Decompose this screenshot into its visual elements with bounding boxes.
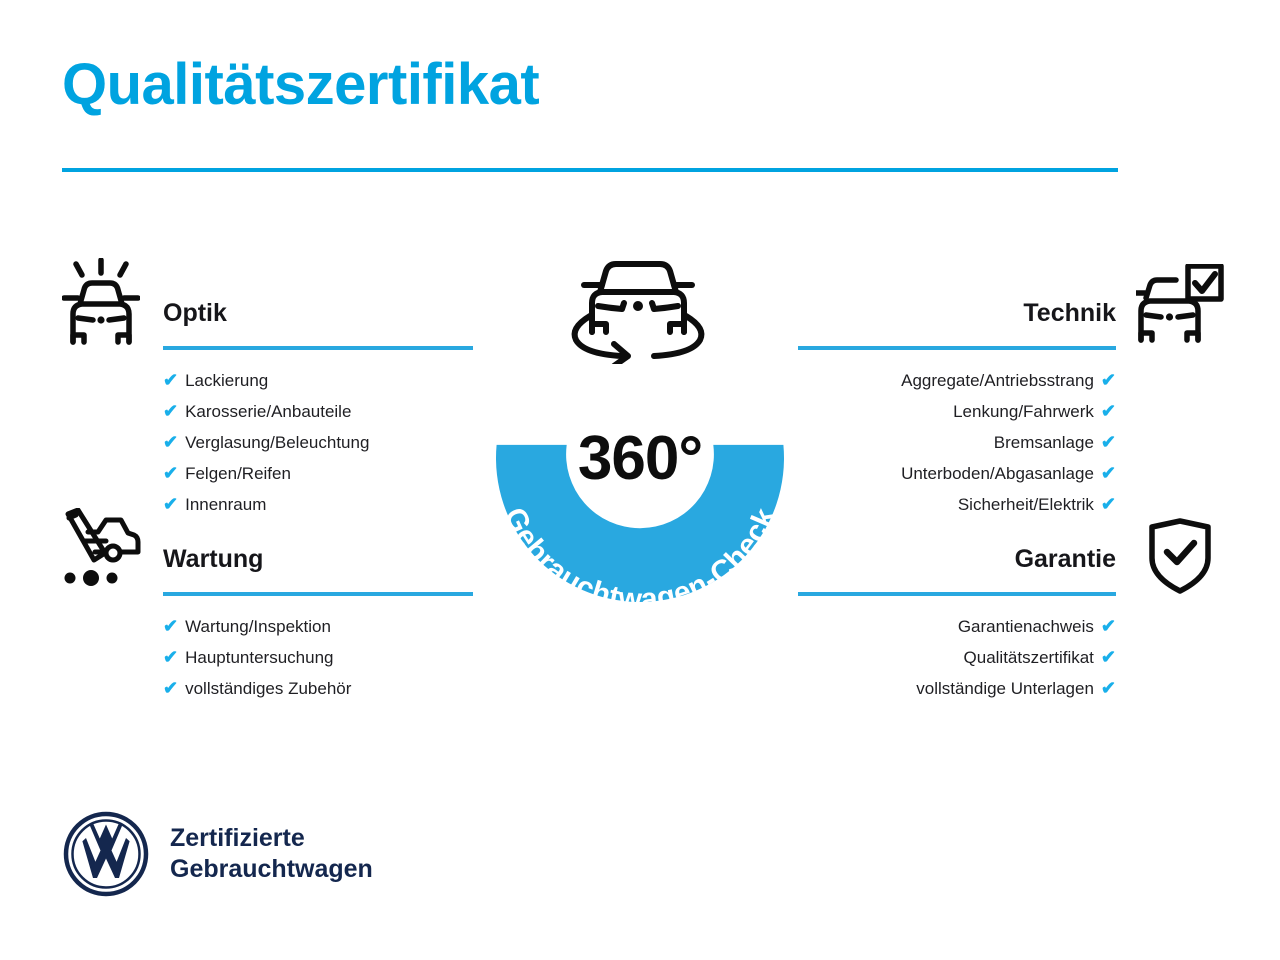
section-wartung-header: Wartung — [163, 544, 473, 596]
check-icon: ✔ — [163, 458, 178, 488]
section-wartung-list: ✔Wartung/Inspektion ✔Hauptuntersuchung ✔… — [163, 611, 473, 704]
check-icon: ✔ — [1101, 458, 1116, 488]
list-item: vollständige Unterlagen✔ — [798, 673, 1116, 704]
list-item: Unterboden/Abgasanlage✔ — [798, 458, 1116, 489]
section-optik-title: Optik — [163, 298, 473, 328]
shield-check-icon — [1148, 518, 1212, 599]
check-icon: ✔ — [163, 673, 178, 703]
footer-line-2: Gebrauchtwagen — [170, 855, 373, 883]
list-item: Bremsanlage✔ — [798, 427, 1116, 458]
list-item-label: Karosserie/Anbauteile — [185, 397, 351, 427]
footer-line-1: Zertifizierte — [170, 824, 305, 852]
list-item-label: Lackierung — [185, 366, 268, 396]
list-item: ✔vollständiges Zubehör — [163, 673, 473, 704]
vw-logo — [62, 810, 150, 898]
check-icon: ✔ — [1101, 611, 1116, 641]
check-icon: ✔ — [1101, 642, 1116, 672]
footer-brand-text: ZertifizierteGebrauchtwagen — [170, 823, 373, 885]
list-item-label: Aggregate/Antriebsstrang — [901, 366, 1094, 396]
list-item-label: Wartung/Inspektion — [185, 612, 331, 642]
check-icon: ✔ — [1101, 673, 1116, 703]
car-service-pen-icon — [58, 508, 142, 595]
list-item-label: Bremsanlage — [994, 428, 1094, 458]
list-item-label: Qualitätszertifikat — [964, 643, 1094, 673]
list-item: Lenkung/Fahrwerk✔ — [798, 396, 1116, 427]
gebrauchtwagen-check-badge: Gebrauchtwagen-Check 360° — [458, 246, 822, 626]
section-technik-list: Aggregate/Antriebsstrang✔ Lenkung/Fahrwe… — [798, 365, 1116, 520]
list-item-label: Felgen/Reifen — [185, 459, 291, 489]
section-garantie: Garantie Garantienachweis✔ Qualitätszert… — [798, 544, 1116, 704]
check-icon: ✔ — [163, 489, 178, 519]
list-item: Garantienachweis✔ — [798, 611, 1116, 642]
car-rotate-icon — [562, 254, 714, 369]
section-garantie-title: Garantie — [798, 544, 1116, 574]
badge-number: 360° — [458, 428, 822, 490]
section-wartung: Wartung ✔Wartung/Inspektion ✔Hauptunters… — [163, 544, 473, 704]
list-item-label: Garantienachweis — [958, 612, 1094, 642]
section-technik: Technik Aggregate/Antriebsstrang✔ Lenkun… — [798, 298, 1116, 520]
list-item: ✔Hauptuntersuchung — [163, 642, 473, 673]
section-wartung-title: Wartung — [163, 544, 473, 574]
list-item: ✔Felgen/Reifen — [163, 458, 473, 489]
check-icon: ✔ — [1101, 365, 1116, 395]
section-garantie-list: Garantienachweis✔ Qualitätszertifikat✔ v… — [798, 611, 1116, 704]
section-technik-title: Technik — [798, 298, 1116, 328]
list-item: ✔Lackierung — [163, 365, 473, 396]
check-icon: ✔ — [163, 365, 178, 395]
list-item-label: vollständiges Zubehör — [185, 674, 351, 704]
section-technik-header: Technik — [798, 298, 1116, 350]
section-optik-list: ✔Lackierung ✔Karosserie/Anbauteile ✔Verg… — [163, 365, 473, 520]
check-icon: ✔ — [163, 642, 178, 672]
page-title: Qualitätszertifikat — [62, 56, 539, 114]
car-front-shine-icon — [62, 258, 140, 351]
list-item-label: vollständige Unterlagen — [916, 674, 1094, 704]
title-divider — [62, 168, 1118, 172]
section-optik-header: Optik — [163, 298, 473, 350]
footer-brand: ZertifizierteGebrauchtwagen — [62, 810, 373, 898]
list-item: ✔Karosserie/Anbauteile — [163, 396, 473, 427]
section-wartung-divider — [163, 592, 473, 596]
check-icon: ✔ — [1101, 396, 1116, 426]
section-optik-divider — [163, 346, 473, 350]
check-icon: ✔ — [163, 611, 178, 641]
list-item: ✔Wartung/Inspektion — [163, 611, 473, 642]
check-icon: ✔ — [1101, 489, 1116, 519]
section-garantie-divider — [798, 592, 1116, 596]
list-item-label: Unterboden/Abgasanlage — [901, 459, 1094, 489]
car-checkbox-icon — [1136, 264, 1224, 349]
list-item: Qualitätszertifikat✔ — [798, 642, 1116, 673]
section-technik-divider — [798, 346, 1116, 350]
section-garantie-header: Garantie — [798, 544, 1116, 596]
list-item-label: Hauptuntersuchung — [185, 643, 333, 673]
check-icon: ✔ — [1101, 427, 1116, 457]
section-optik: Optik ✔Lackierung ✔Karosserie/Anbauteile… — [163, 298, 473, 520]
list-item-label: Lenkung/Fahrwerk — [953, 397, 1094, 427]
check-icon: ✔ — [163, 396, 178, 426]
list-item: ✔Innenraum — [163, 489, 473, 520]
check-icon: ✔ — [163, 427, 178, 457]
list-item-label: Sicherheit/Elektrik — [958, 490, 1094, 520]
list-item: Aggregate/Antriebsstrang✔ — [798, 365, 1116, 396]
list-item-label: Innenraum — [185, 490, 266, 520]
list-item: Sicherheit/Elektrik✔ — [798, 489, 1116, 520]
list-item: ✔Verglasung/Beleuchtung — [163, 427, 473, 458]
list-item-label: Verglasung/Beleuchtung — [185, 428, 369, 458]
